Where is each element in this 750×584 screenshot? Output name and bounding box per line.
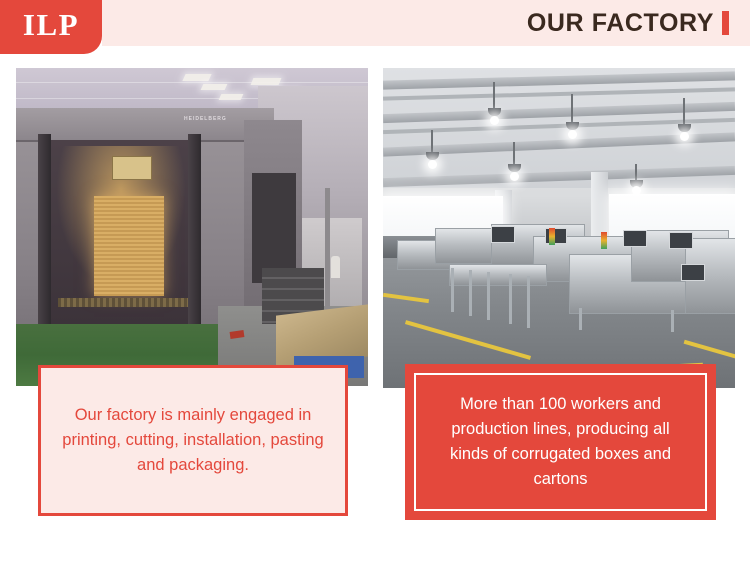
logo-text: ILP xyxy=(23,9,79,46)
caption-box-right: More than 100 workers and production lin… xyxy=(405,364,716,520)
caption-text-left: Our factory is mainly engaged in printin… xyxy=(59,403,327,478)
caption-box-left: Our factory is mainly engaged in printin… xyxy=(38,365,348,516)
page-header: OUR FACTORY ILP xyxy=(0,0,750,46)
caption-text-right: More than 100 workers and production lin… xyxy=(430,392,691,492)
factory-photo-production-lines xyxy=(383,68,735,388)
factory-panel-right xyxy=(383,68,735,388)
factory-panel-left: HEIDELBERG xyxy=(16,68,368,386)
machine-brand-label: HEIDELBERG xyxy=(184,116,227,122)
factory-photo-printing-press: HEIDELBERG xyxy=(16,68,368,386)
page-title: OUR FACTORY xyxy=(527,0,714,46)
caption-inner-border-right: More than 100 workers and production lin… xyxy=(414,373,707,511)
title-accent-bar xyxy=(722,11,729,35)
logo-badge[interactable]: ILP xyxy=(0,0,102,54)
